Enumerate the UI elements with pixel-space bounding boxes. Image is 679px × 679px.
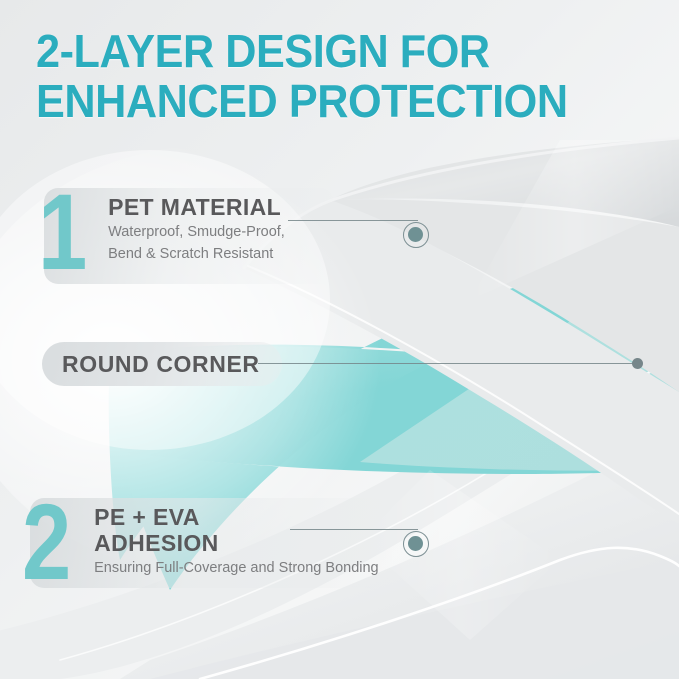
headline-line-1: 2-LAYER DESIGN FOR [36, 26, 619, 76]
round-corner-label: ROUND CORNER [62, 351, 260, 378]
product-infographic: 2-LAYER DESIGN FOR ENHANCED PROTECTION 1… [0, 0, 679, 679]
feature-1-subtitle-line-1: Waterproof, Smudge-Proof, [108, 223, 285, 242]
feature-2-title-line-1: PE + EVA [94, 504, 379, 530]
feature-1-subtitle-line-2: Bend & Scratch Resistant [108, 245, 285, 264]
feature-1-text: PET MATERIAL Waterproof, Smudge-Proof, B… [108, 186, 285, 264]
feature-1-number: 1 [38, 186, 87, 278]
feature-2-number: 2 [22, 496, 71, 588]
feature-pet-material: 1 PET MATERIAL Waterproof, Smudge-Proof,… [38, 186, 285, 278]
headline: 2-LAYER DESIGN FOR ENHANCED PROTECTION [36, 26, 656, 126]
headline-line-2: ENHANCED PROTECTION [36, 76, 619, 126]
feature-2-title-line-2: ADHESION [94, 530, 379, 556]
pet-material-leader-line [288, 220, 418, 221]
feature-2-subtitle: Ensuring Full-Coverage and Strong Bondin… [94, 559, 379, 578]
pet-material-marker-dot-icon [408, 227, 423, 242]
feature-2-text: PE + EVA ADHESION Ensuring Full-Coverage… [94, 496, 379, 578]
adhesion-leader-line [290, 529, 418, 530]
feature-pe-eva-adhesion: 2 PE + EVA ADHESION Ensuring Full-Covera… [22, 496, 379, 588]
round-corner-leader-line [258, 363, 636, 364]
adhesion-marker-dot-icon [408, 536, 423, 551]
feature-1-title: PET MATERIAL [108, 194, 285, 220]
round-corner-pill: ROUND CORNER [42, 342, 282, 386]
round-corner-marker-dot-icon [632, 358, 643, 369]
